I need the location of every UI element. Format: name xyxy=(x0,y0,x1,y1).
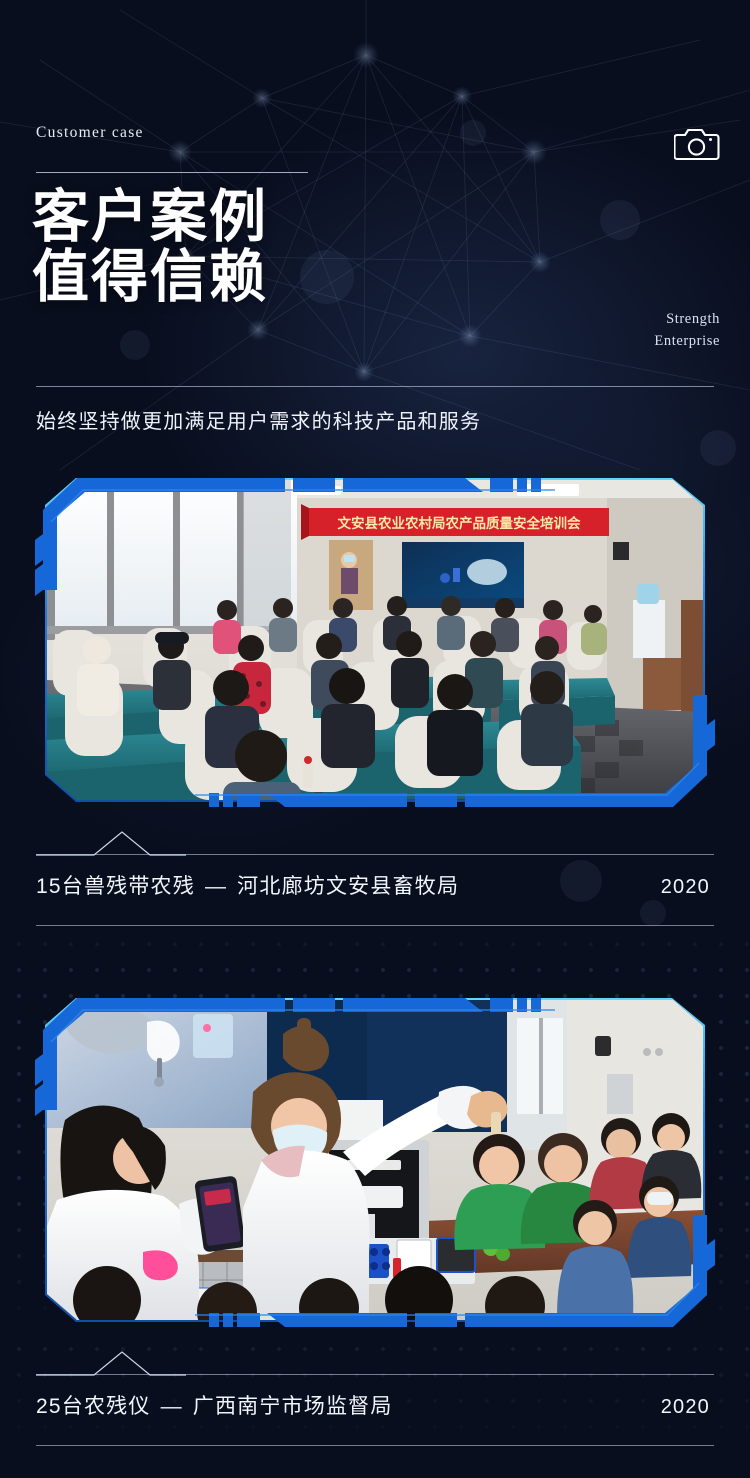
photo-frame-2 xyxy=(35,990,715,1335)
strength-enterprise-label: Strength Enterprise xyxy=(654,308,720,353)
caption-qty-1: 15台兽残带农残 xyxy=(36,875,195,898)
case-photo-1: 文安县农业农村局农产品质量安全培训会 xyxy=(47,480,703,800)
caption-chevron-1 xyxy=(36,828,186,862)
strength-line-1: Strength xyxy=(654,308,720,330)
page-title: 客户案例 值得信赖 xyxy=(32,188,452,309)
caption-bottom-divider-2 xyxy=(36,1445,714,1446)
caption-qty-2: 25台农残仪 xyxy=(36,1395,151,1418)
page-root: Customer case 客户案例 值得信赖 Strength Enterpr… xyxy=(0,0,750,1478)
caption-top-divider-1 xyxy=(36,854,714,855)
caption-text-2: 25台农残仪—广西南宁市场监督局 xyxy=(36,1390,393,1420)
page-subtitle: 始终坚持做更加满足用户需求的科技产品和服务 xyxy=(36,405,481,434)
caption-customer-2: 广西南宁市场监督局 xyxy=(193,1395,393,1418)
case-item-2: 25台农残仪—广西南宁市场监督局 2020 xyxy=(0,990,750,1335)
caption-year-2: 2020 xyxy=(661,1396,714,1419)
caption-chevron-2 xyxy=(36,1348,186,1382)
page-title-line-1: 客户案例 xyxy=(32,188,452,248)
caption-customer-1: 河北廊坊文安县畜牧局 xyxy=(237,875,459,898)
caption-year-1: 2020 xyxy=(661,876,714,899)
eyebrow-label: Customer case xyxy=(36,124,144,142)
case-item-1: 文安县农业农村局农产品质量安全培训会 xyxy=(0,470,750,815)
caption-text-1: 15台兽残带农残—河北廊坊文安县畜牧局 xyxy=(36,870,459,900)
caption-row-1: 15台兽残带农残—河北廊坊文安县畜牧局 2020 xyxy=(36,870,714,900)
photo-banner-text-1: 文安县农业农村局农产品质量安全培训会 xyxy=(338,515,581,531)
caption-dash-1: — xyxy=(205,875,227,898)
page-title-line-2: 值得信赖 xyxy=(32,248,452,308)
camera-icon[interactable] xyxy=(674,124,720,162)
photo-frame-1: 文安县农业农村局农产品质量安全培训会 xyxy=(35,470,715,815)
caption-row-2: 25台农残仪—广西南宁市场监督局 2020 xyxy=(36,1390,714,1420)
case-photo-2 xyxy=(47,1000,703,1320)
caption-bottom-divider-1 xyxy=(36,925,714,926)
eyebrow-divider xyxy=(36,172,308,173)
caption-top-divider-2 xyxy=(36,1374,714,1375)
header-divider xyxy=(36,386,714,387)
page-header: Customer case 客户案例 值得信赖 Strength Enterpr… xyxy=(0,0,750,465)
strength-line-2: Enterprise xyxy=(654,330,720,352)
caption-dash-2: — xyxy=(161,1395,183,1418)
